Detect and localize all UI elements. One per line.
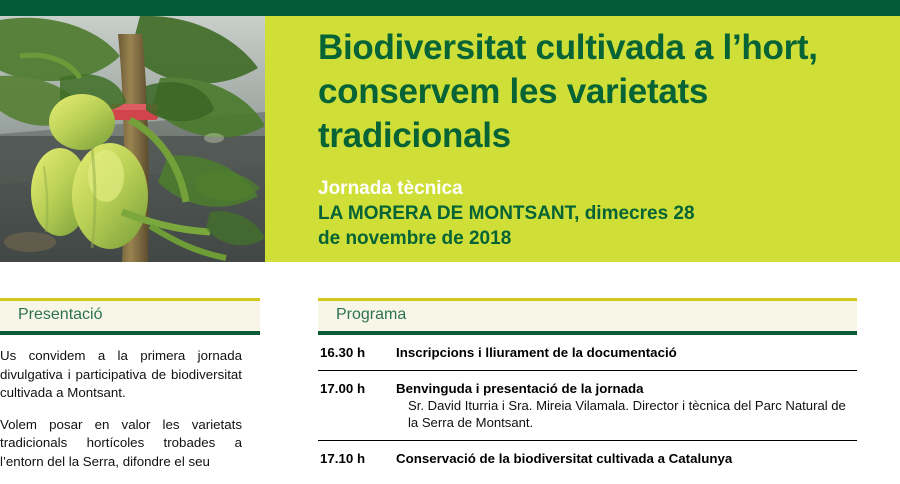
- programa-body: 16.30 h Inscripcions i lliurament de la …: [318, 335, 857, 476]
- programa-row-title: Benvinguda i presentació de la jornada: [396, 380, 857, 397]
- programa-row-title: Conservació de la biodiversitat cultivad…: [396, 450, 857, 467]
- programa-row: 17.00 h Benvinguda i presentació de la j…: [318, 371, 857, 441]
- programa-header: Programa: [318, 298, 857, 335]
- programa-heading: Programa: [336, 306, 406, 324]
- programa-row-time: 16.30 h: [318, 344, 388, 361]
- event-location: LA MORERA DE MONTSANT, dimecres 28: [318, 201, 888, 226]
- programa-row: 17.10 h Conservació de la biodiversitat …: [318, 441, 857, 476]
- event-kicker: Jornada tècnica: [318, 176, 888, 201]
- banner-subtitle: Jornada tècnica LA MORERA DE MONTSANT, d…: [318, 176, 888, 251]
- programa-row-speaker: Sr. David Iturria i Sra. Mireia Vilamala…: [396, 397, 857, 431]
- page-title: Biodiversitat cultivada a l’hort, conser…: [318, 26, 878, 158]
- top-green-bar: [0, 0, 900, 16]
- programa-row-title: Inscripcions i lliurament de la document…: [396, 344, 857, 361]
- tomato-plant-photo: [0, 16, 265, 262]
- programa-row-content: Conservació de la biodiversitat cultivad…: [388, 450, 857, 467]
- presentacio-paragraph: Volem posar en valor les varietats tradi…: [0, 416, 242, 472]
- event-date: de novembre de 2018: [318, 226, 888, 251]
- presentacio-heading: Presentació: [18, 306, 103, 324]
- programa-column: Programa 16.30 h Inscripcions i lliurame…: [318, 298, 857, 476]
- programa-row: 16.30 h Inscripcions i lliurament de la …: [318, 335, 857, 371]
- programa-row-content: Inscripcions i lliurament de la document…: [388, 344, 857, 361]
- presentacio-body: Us convidem a la primera jornada divulga…: [0, 335, 260, 471]
- programa-row-time: 17.00 h: [318, 380, 388, 431]
- banner-green-panel: Biodiversitat cultivada a l’hort, conser…: [265, 16, 900, 262]
- programa-row-content: Benvinguda i presentació de la jornada S…: [388, 380, 857, 431]
- presentacio-header: Presentació: [0, 298, 260, 335]
- photo-illustration: [0, 16, 265, 262]
- presentacio-column: Presentació Us convidem a la primera jor…: [0, 298, 260, 484]
- presentacio-paragraph: Us convidem a la primera jornada divulga…: [0, 347, 242, 403]
- poster-banner: Biodiversitat cultivada a l’hort, conser…: [0, 0, 900, 262]
- programa-row-time: 17.10 h: [318, 450, 388, 467]
